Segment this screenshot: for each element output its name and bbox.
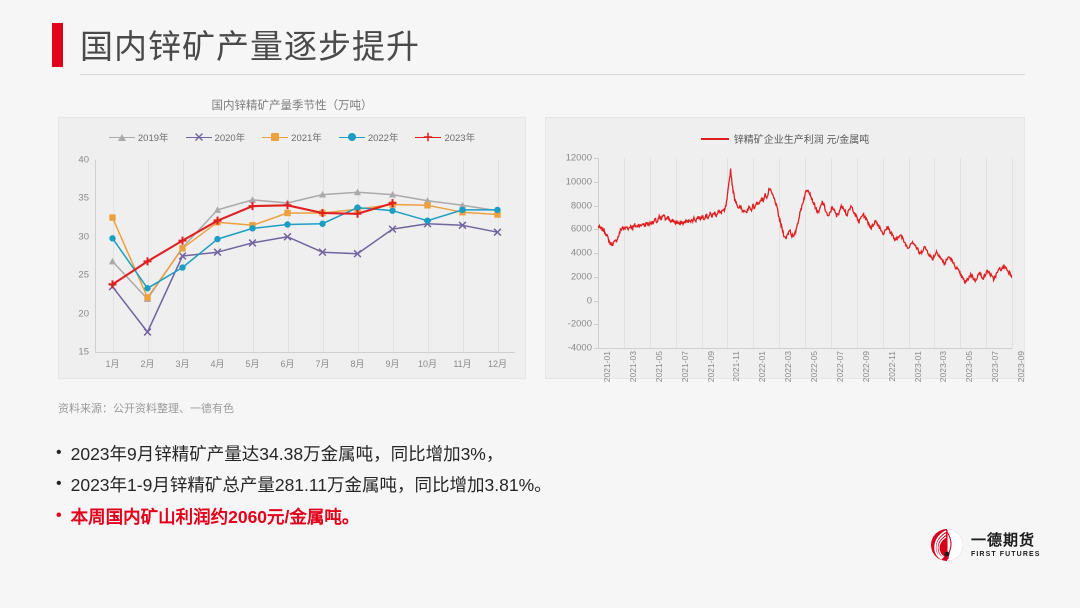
y-axis-tick: 4000: [571, 248, 592, 259]
y-axis-tick: 10000: [566, 176, 592, 187]
x-axis-tick: 2021-05: [654, 351, 664, 382]
y-axis-tick: 6000: [571, 224, 592, 235]
right-chart-legend: 锌精矿企业生产利润 元/金属吨: [546, 131, 1024, 146]
logo-emblem-icon: [930, 528, 964, 562]
x-axis-tick: 2022-09: [861, 351, 871, 382]
legend-item-2020年: 2020年: [186, 130, 246, 144]
x-axis-tick: 2022-03: [783, 351, 793, 382]
data-point: [144, 294, 150, 300]
profit-series-layer: [598, 158, 1012, 348]
logo-name-en: FIRST FUTURES: [971, 551, 1041, 558]
data-point: [459, 207, 465, 213]
bullet-item: •本周国内矿山利润约2060元/金属吨。: [56, 503, 896, 531]
data-point: [179, 245, 185, 251]
x-axis-tick: 6月: [280, 357, 294, 370]
legend-swatch-cross-icon: [415, 132, 441, 142]
data-point: [319, 221, 325, 227]
page-title: 国内锌矿产量逐步提升: [80, 20, 420, 68]
left-chart-panel: 2019年2020年2021年2022年2023年 1520253035401月…: [58, 117, 526, 379]
legend-swatch-circle-icon: [339, 132, 365, 142]
right-chart-panel: 锌精矿企业生产利润 元/金属吨 -4000-200002000400060008…: [545, 117, 1025, 379]
series-line-2020年: [113, 224, 498, 332]
x-axis-tick: 10月: [418, 357, 437, 370]
y-axis-tick: 8000: [571, 200, 592, 211]
legend-swatch-x-icon: [186, 132, 212, 142]
bullet-text: 2023年1-9月锌精矿总产量281.11万金属吨，同比增加3.81%。: [71, 471, 552, 499]
left-chart-title: 国内锌精矿产量季节性（万吨）: [58, 97, 526, 113]
x-axis-tick: 2021-03: [628, 351, 638, 382]
y-axis-tick: 15: [78, 347, 89, 358]
grid-line: [1012, 158, 1013, 348]
bullet-item: •2023年1-9月锌精矿总产量281.11万金属吨，同比增加3.81%。: [56, 471, 896, 499]
company-logo: 一德期货 FIRST FUTURES: [930, 528, 1041, 562]
x-axis-tick: 2023-09: [1016, 351, 1026, 382]
y-axis-tick: 25: [78, 270, 89, 281]
data-point: [284, 221, 290, 227]
legend-label: 2020年: [215, 130, 246, 144]
y-axis-tick: 12000: [566, 153, 592, 164]
legend-item-2022年: 2022年: [339, 130, 399, 144]
data-point: [424, 217, 430, 223]
x-axis-tick: 11月: [453, 357, 471, 370]
legend-swatch-triangle-icon: [109, 132, 135, 142]
y-axis-tick: 0: [587, 295, 592, 306]
x-axis-tick: 2023-05: [964, 351, 974, 382]
x-axis-tick: 7月: [315, 357, 329, 370]
y-axis-tick: 40: [78, 155, 89, 166]
data-point: [494, 207, 500, 213]
data-point: [179, 264, 185, 270]
data-point: [389, 207, 395, 213]
x-axis-tick: 4月: [210, 357, 224, 370]
logo-name-cn: 一德期货: [971, 533, 1041, 548]
data-point: [144, 329, 151, 336]
x-axis-tick: 12月: [488, 357, 507, 370]
x-axis-tick: 2021-11: [731, 351, 741, 382]
profit-line: [598, 169, 1012, 284]
data-point: [109, 214, 115, 220]
data-point: [249, 225, 255, 231]
bullet-text: 2023年9月锌精矿产量达34.38万金属吨，同比增加3%，: [71, 440, 504, 468]
x-axis-tick: 2022-05: [809, 351, 819, 382]
x-axis-tick: 2022-11: [887, 351, 897, 382]
y-axis-tick: -4000: [568, 343, 592, 354]
right-chart-plot-area: -4000-2000020004000600080001000012000202…: [598, 158, 1012, 348]
bullet-marker: •: [56, 471, 62, 497]
data-point: [214, 236, 220, 242]
legend-label: 2022年: [368, 130, 399, 144]
x-axis-tick: 2023-01: [913, 351, 923, 382]
legend-label: 2023年: [444, 130, 475, 144]
data-point: [424, 202, 430, 208]
title-accent-bar: [52, 23, 63, 67]
y-axis-tick: -2000: [568, 319, 592, 330]
bullet-text: 本周国内矿山利润约2060元/金属吨。: [71, 503, 360, 531]
x-axis-tick: 5月: [245, 357, 259, 370]
slide-header: 国内锌矿产量逐步提升: [0, 0, 1080, 82]
bullet-item: •2023年9月锌精矿产量达34.38万金属吨，同比增加3%，: [56, 440, 896, 468]
bullet-list: •2023年9月锌精矿产量达34.38万金属吨，同比增加3%，•2023年1-9…: [56, 440, 896, 534]
left-chart-legend: 2019年2020年2021年2022年2023年: [59, 130, 525, 144]
data-point: [109, 235, 115, 241]
legend-label-profit: 锌精矿企业生产利润 元/金属吨: [734, 131, 870, 146]
logo-text: 一德期货 FIRST FUTURES: [971, 533, 1041, 558]
x-axis-tick: 2022-01: [757, 351, 767, 382]
data-point: [144, 285, 150, 291]
x-axis-tick: 2023-03: [938, 351, 948, 382]
x-axis-tick: 2021-09: [706, 351, 716, 382]
y-axis-tick: 30: [78, 231, 89, 242]
x-axis-tick: 2021-01: [602, 351, 612, 382]
legend-item-2021年: 2021年: [262, 130, 322, 144]
slide-root: 国内锌矿产量逐步提升 国内锌精矿产量季节性（万吨） 2019年2020年2021…: [0, 0, 1080, 608]
legend-label: 2021年: [291, 130, 322, 144]
x-axis-tick: 9月: [385, 357, 399, 370]
series-layer: [95, 160, 515, 352]
data-point: [109, 258, 116, 265]
y-axis-tick: 35: [78, 193, 89, 204]
x-axis-tick: 1月: [105, 357, 119, 370]
bullet-marker: •: [56, 440, 62, 466]
data-point: [249, 202, 257, 210]
x-axis-tick: 2021-07: [680, 351, 690, 382]
x-axis-tick: 8月: [350, 357, 364, 370]
y-axis-tick: 2000: [571, 271, 592, 282]
x-axis-tick: 3月: [175, 357, 189, 370]
source-note: 资料来源：公开资料整理、一德有色: [58, 400, 234, 416]
legend-item-2023年: 2023年: [415, 130, 475, 144]
y-axis-tick: 20: [78, 308, 89, 319]
left-chart-plot-area: 1520253035401月2月3月4月5月6月7月8月9月10月11月12月: [95, 160, 515, 352]
x-axis-tick: 2022-07: [835, 351, 845, 382]
x-axis-tick: 2月: [140, 357, 154, 370]
legend-label: 2019年: [138, 130, 169, 144]
legend-item-2019年: 2019年: [109, 130, 169, 144]
x-axis-line: [598, 348, 1012, 349]
bullet-marker: •: [56, 503, 62, 529]
x-axis-tick: 2023-07: [990, 351, 1000, 382]
legend-swatch-square-icon: [262, 132, 288, 142]
title-divider: [80, 74, 1025, 75]
data-point: [284, 210, 290, 216]
x-axis-line: [95, 352, 515, 353]
legend-line-swatch: [701, 138, 729, 140]
